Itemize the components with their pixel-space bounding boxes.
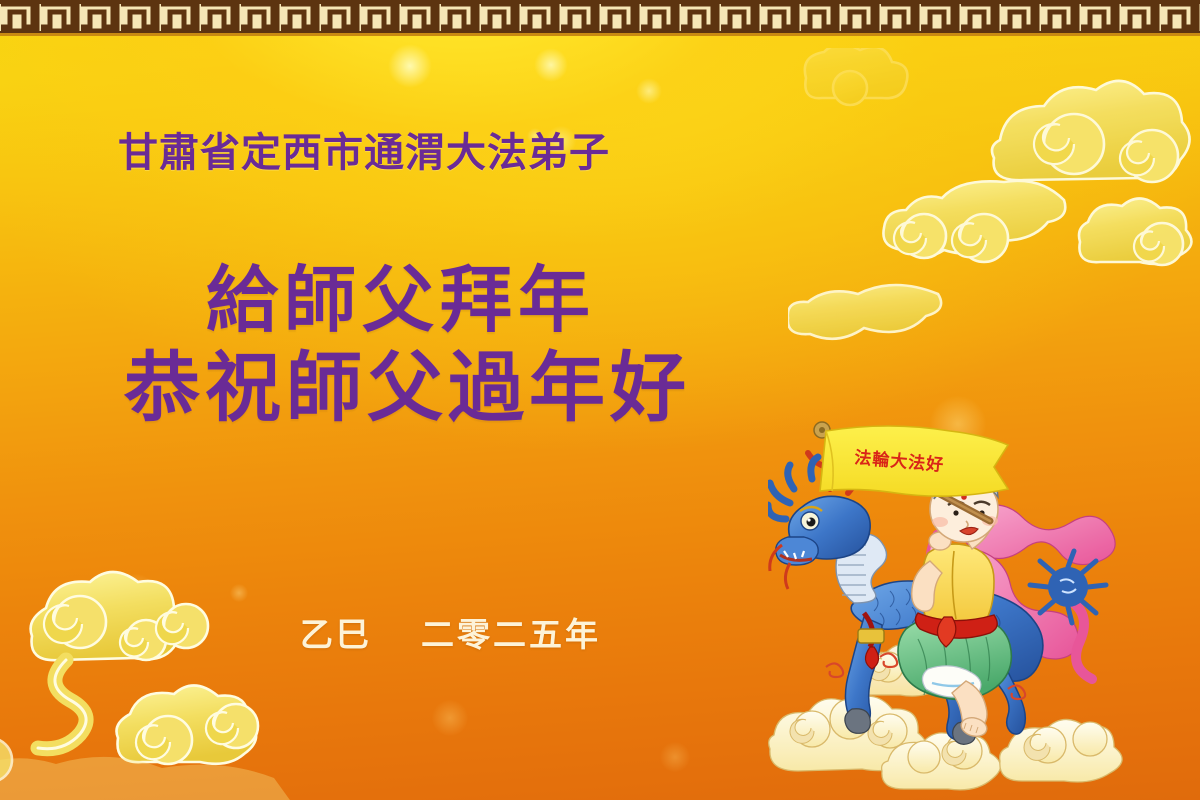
greeting-line-2: 恭祝師父過年好 [124,348,878,429]
sender-line: 甘肅省定西市通渭大法弟子 [118,133,610,173]
greeting-card: 法輪大法好 甘肅省定西市通渭大法弟子 給師父拜年 恭祝師父過年好 乙巳 二零二五… [0,0,1200,800]
greeting-line-1: 給師父拜年 [206,262,878,338]
date-year: 二零二五年 [421,615,601,654]
top-border-meander [0,0,1200,36]
date-stamp: 乙巳 二零二五年 [300,608,601,656]
meander-pattern-icon [0,0,1200,36]
greeting-block: 給師父拜年 恭祝師父過年好 [118,262,878,429]
text-layer: 甘肅省定西市通渭大法弟子 給師父拜年 恭祝師父過年好 乙巳 二零二五年 [0,0,1200,800]
date-ganzhi: 乙巳 [300,615,372,654]
